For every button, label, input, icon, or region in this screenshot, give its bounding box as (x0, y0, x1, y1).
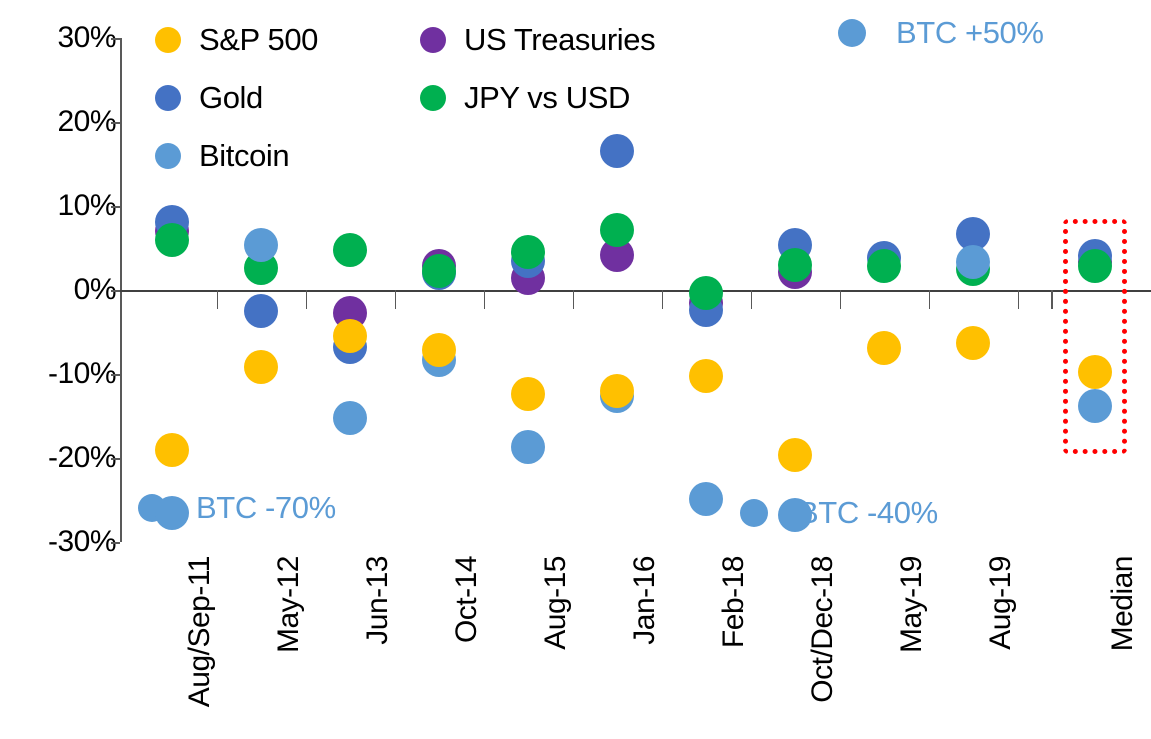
plot-area (120, 38, 1151, 542)
data-point (511, 430, 545, 464)
x-axis-zero-line (120, 290, 1151, 292)
y-axis-tick (111, 542, 120, 544)
data-point (333, 401, 367, 435)
data-point (155, 223, 189, 257)
data-point (956, 326, 990, 360)
data-point (867, 331, 901, 365)
data-point (956, 245, 990, 279)
data-point (244, 350, 278, 384)
x-axis-tick (1051, 290, 1053, 309)
data-point (600, 374, 634, 408)
y-axis-tick-label: 10% (30, 191, 116, 221)
y-axis-tick-label: 30% (30, 23, 116, 53)
x-axis-category-label: Feb-18 (719, 556, 749, 648)
x-axis-tick (217, 290, 219, 309)
y-axis-tick (111, 122, 120, 124)
x-axis-category-label: Median (1108, 556, 1138, 651)
x-axis-category-label: May-12 (274, 556, 304, 653)
y-axis-tick-label: 0% (30, 275, 116, 305)
data-point (1078, 249, 1112, 283)
x-axis-category-label: Aug-15 (541, 556, 571, 650)
data-point (155, 496, 189, 530)
x-axis-tick (484, 290, 486, 309)
data-point (689, 482, 723, 516)
data-point (244, 228, 278, 262)
x-axis-category-label: Jun-13 (363, 556, 393, 645)
y-axis-tick-label: 20% (30, 107, 116, 137)
x-axis-category-label: May-19 (897, 556, 927, 653)
x-axis-tick (395, 290, 397, 309)
x-axis-tick (1018, 290, 1020, 309)
x-axis-category-label: Aug-19 (986, 556, 1016, 650)
y-axis-tick (111, 374, 120, 376)
data-point (244, 294, 278, 328)
data-point (689, 276, 723, 310)
data-point (333, 319, 367, 353)
x-axis-tick (840, 290, 842, 309)
y-axis-tick-label: -30% (30, 527, 116, 557)
x-axis-tick (751, 290, 753, 309)
y-axis-tick (111, 458, 120, 460)
x-axis-tick (573, 290, 575, 309)
x-axis-tick (306, 290, 308, 309)
data-point (778, 498, 812, 532)
x-axis-category-label: Oct/Dec-18 (808, 556, 838, 703)
y-axis-tick (111, 290, 120, 292)
y-axis-tick (111, 206, 120, 208)
data-point (778, 438, 812, 472)
y-axis-tick (111, 38, 120, 40)
x-axis-category-label: Aug/Sep-11 (185, 556, 215, 707)
x-axis-tick (662, 290, 664, 309)
data-point (689, 359, 723, 393)
y-axis-tick-label: -20% (30, 443, 116, 473)
data-point (1078, 389, 1112, 423)
x-axis-tick (929, 290, 931, 309)
data-point (422, 254, 456, 288)
x-axis-category-label: Oct-14 (452, 556, 482, 643)
data-point (155, 433, 189, 467)
data-point (422, 333, 456, 367)
chart-root: S&P 500 Gold Bitcoin US Treasuries JPY v… (0, 0, 1151, 739)
x-axis-category-label: Jan-16 (630, 556, 660, 645)
data-point (511, 235, 545, 269)
y-axis-tick-label: -10% (30, 359, 116, 389)
data-point (333, 233, 367, 267)
data-point (778, 248, 812, 282)
data-point (1078, 355, 1112, 389)
data-point (600, 134, 634, 168)
data-point (600, 213, 634, 247)
data-point (511, 377, 545, 411)
data-point (867, 249, 901, 283)
